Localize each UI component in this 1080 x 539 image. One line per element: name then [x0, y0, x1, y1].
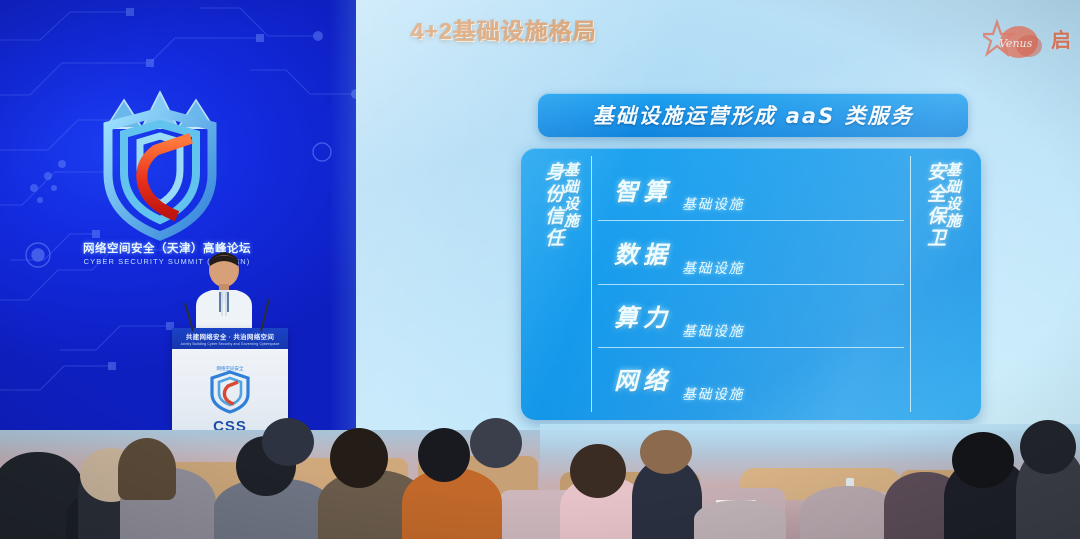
slide-row-sub: 基础设施 [682, 194, 744, 214]
slide-row: 数据 基础设施 [598, 221, 904, 284]
audience-member-head [262, 418, 314, 466]
slide-row-main: 网络 [614, 361, 672, 396]
slide-right-column-sub: 基础设施 [944, 156, 960, 250]
podium-banner-cn: 共建网络安全 · 共治网络空间 [186, 331, 274, 341]
slide-title: 4+2基础设施格局 [411, 12, 597, 46]
brand-cn-char: 启 [1051, 24, 1072, 53]
slide-left-column-sub: 基础设施 [562, 156, 578, 250]
slide-right-column-main: 安全保卫 [924, 156, 944, 250]
slide-row-sub: 基础设施 [682, 258, 744, 278]
slide-header-banner: 基础设施运营形成 aaS 类服务 [538, 93, 968, 137]
svg-text:Venus: Venus [999, 37, 1033, 50]
podium-shield-logo-icon: 网络空间安全 [204, 362, 256, 414]
podium-banner-en: Jointly Building Cyber Security and Gove… [180, 342, 279, 346]
slide-row: 网络 基础设施 [598, 348, 904, 410]
slide-left-column-main: 身份信任 [542, 156, 562, 250]
podium-banner: 共建网络安全 · 共治网络空间 Jointly Building Cyber S… [172, 328, 288, 349]
audience-member-head [418, 428, 470, 482]
slide-infrastructure-card: 身份信任 基础设施 智算 基础设施 数据 基础设施 算力 基础设施 [521, 148, 981, 420]
venus-venustech-logo: Venus 启 [983, 16, 1072, 60]
audience-member-head [1020, 420, 1076, 474]
screenshot-stage: 网络空间安全（天津）高峰论坛 CYBER SECURITY SUMMIT (TI… [0, 0, 1080, 539]
audience-member-head [570, 444, 626, 498]
slide-row: 算力 基础设施 [598, 285, 904, 348]
slide-row: 智算 基础设施 [598, 158, 904, 221]
audience-member-head [118, 438, 176, 500]
audience-member [800, 486, 896, 539]
audience-member-head [640, 430, 692, 474]
slide-row-main: 智算 [614, 172, 672, 207]
audience-member-head [330, 428, 388, 488]
svg-text:网络空间安全: 网络空间安全 [217, 365, 244, 372]
slide-row-sub: 基础设施 [682, 384, 744, 404]
audience-member [694, 500, 786, 539]
slide-row-main: 数据 [614, 235, 672, 270]
venus-peach-icon: Venus [983, 16, 1047, 60]
projection-screen: 4+2基础设施格局 Venus 启 基础设施运营形成 aaS 类服务 身份信任 … [356, 0, 1080, 430]
slide-rows-container: 智算 基础设施 数据 基础设施 算力 基础设施 网络 基础设施 [592, 156, 910, 412]
audience-member-head [470, 418, 522, 468]
slide-row-sub: 基础设施 [682, 321, 744, 341]
slide-row-main: 算力 [614, 298, 672, 333]
slide-right-column: 安全保卫 基础设施 [910, 156, 973, 412]
audience-member-head [952, 432, 1014, 488]
slide-header-banner-text: 基础设施运营形成 aaS 类服务 [592, 100, 913, 130]
cyber-security-shield-emblem [90, 78, 230, 243]
slide-left-column: 身份信任 基础设施 [529, 156, 592, 412]
